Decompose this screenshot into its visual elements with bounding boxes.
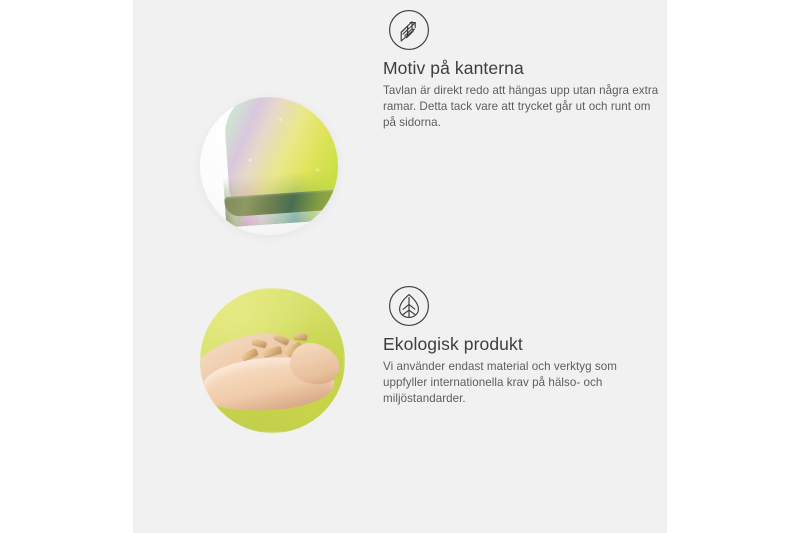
feature-text-edges: Motiv på kanterna Tavlan är direkt redo … xyxy=(383,57,661,131)
leaf-icon xyxy=(388,285,430,327)
feature-block-eco: Ekologisk produkt Vi använder endast mat… xyxy=(133,266,667,533)
canvas-print-corner-photo xyxy=(200,97,338,235)
feature-description: Vi använder endast material och verktyg … xyxy=(383,359,661,407)
feature-block-edges: Motiv på kanterna Tavlan är direkt redo … xyxy=(133,0,667,266)
canvas-wrapped-edges-icon xyxy=(388,9,430,51)
feature-title: Ekologisk produkt xyxy=(383,333,661,355)
hands-holding-wood-chips-photo xyxy=(200,288,345,433)
feature-text-eco: Ekologisk produkt Vi använder endast mat… xyxy=(383,333,661,407)
feature-description: Tavlan är direkt redo att hängas upp uta… xyxy=(383,83,661,131)
feature-title: Motiv på kanterna xyxy=(383,57,661,79)
infographic-stage: Motiv på kanterna Tavlan är direkt redo … xyxy=(133,0,667,533)
product-feature-infographic: Motiv på kanterna Tavlan är direkt redo … xyxy=(0,0,800,533)
